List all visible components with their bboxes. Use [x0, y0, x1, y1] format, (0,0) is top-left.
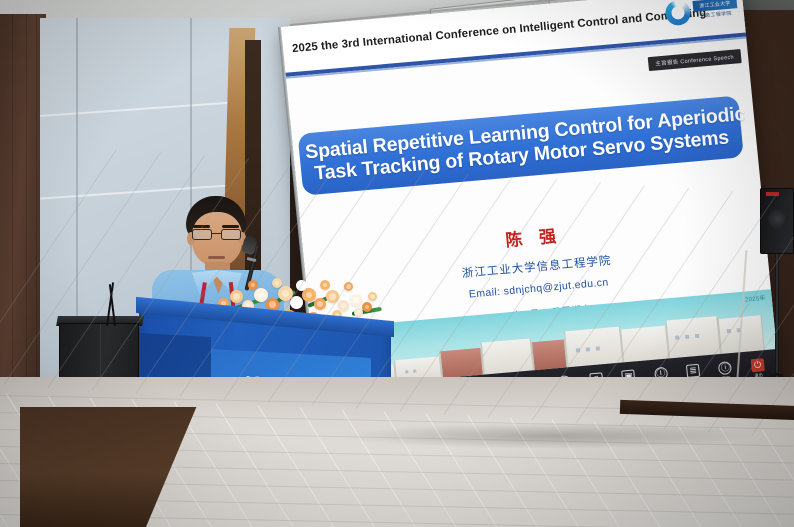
flower-bloom	[350, 294, 362, 306]
conference-hall-photo: 2025 the 3rd International Conference on…	[0, 0, 794, 527]
flower-bloom	[320, 280, 330, 290]
conference-logo-group: 浙江工业大学 信息工程学院	[664, 0, 738, 26]
flower-bloom	[254, 288, 268, 302]
eyebrow	[222, 225, 239, 228]
flower-bloom	[326, 290, 339, 303]
speaker-cone-icon	[768, 209, 788, 229]
info-icon: ⓘ	[718, 361, 732, 375]
mouth	[208, 256, 225, 259]
floor-shadow	[340, 423, 760, 449]
flower-bloom	[272, 278, 282, 288]
flower-bloom	[230, 290, 243, 303]
flower-bloom	[314, 298, 326, 310]
speech-type-badge: 主旨报告 Conference Speech	[648, 49, 742, 71]
slide-title-banner: Spatial Repetitive Learning Control for …	[298, 95, 744, 195]
conference-c-logo-icon	[664, 0, 691, 26]
flower-bloom	[338, 300, 349, 311]
university-logo: 浙江工业大学 信息工程学院	[692, 0, 738, 24]
flower-bloom	[354, 308, 363, 317]
flower-bloom	[368, 292, 377, 301]
flower-bloom	[362, 302, 372, 312]
